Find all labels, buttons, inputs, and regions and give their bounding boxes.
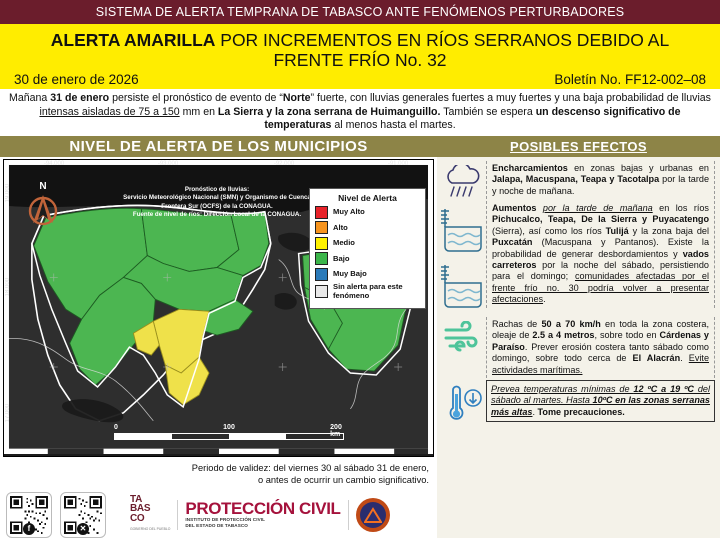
effect-text-temperature: Prevea temperaturas mínimas de 12 ºC a 1… (486, 380, 715, 422)
effects-list: Encharcamientos en zonas bajas y urbanas… (437, 157, 720, 424)
footer: f (0, 486, 437, 538)
alert-map: -94.000 -93.000 -92.000 -91.000 19.000 1… (3, 159, 434, 457)
legend-swatch (315, 252, 328, 265)
effect-text-rain: Encharcamientos en zonas bajas y urbanas… (486, 161, 715, 199)
validity-period: Periodo de validez: del viernes 30 al sá… (0, 457, 437, 486)
thermometer-down-glyph (441, 384, 485, 424)
compass-icon (26, 192, 60, 226)
validity-line-1: Periodo de validez: del viernes 30 al sá… (0, 462, 429, 474)
legend-label: Medio (333, 239, 355, 247)
scale-numbers: 0 100 200 km (114, 424, 344, 433)
effect-seg: y la zona baja del (629, 226, 709, 236)
alert-level: ALERTA AMARILLA (51, 30, 216, 50)
credit-line: Servicio Meteorológico Nacional (SMN) y … (92, 194, 342, 202)
intro-paragraph: Mañana 31 de enero persiste el pronóstic… (0, 89, 720, 136)
intro-seg: También se espera (440, 106, 535, 118)
effect-seg: El Alacrán (633, 353, 681, 363)
legend-swatch (315, 221, 328, 234)
map-longitude-labels: -94.000 -93.000 -92.000 -91.000 (4, 161, 433, 171)
bulletin-date: 30 de enero de 2026 (14, 72, 139, 87)
intro-seg: ” fuerte, con lluvias generales fuertes … (311, 92, 711, 104)
effect-seg: (Sierra), así como los ríos (492, 226, 606, 236)
lat-label: 18.000 (5, 278, 11, 296)
intro-seg: mm en (180, 106, 218, 118)
tabasco-subtitle: GOBIERNO DEL PUEBLO (130, 525, 170, 535)
effects-column: POSIBLES EFECTOS Enchar (437, 136, 720, 538)
water-level-gauge-icon (440, 201, 486, 315)
lon-label: -91.000 (388, 161, 408, 167)
thermometer-down-icon (440, 380, 486, 424)
credit-line: Frontera Sur (OCFS) de la CONAGUA. (92, 203, 342, 211)
legend-label: Sin alerta para este fenómeno (333, 283, 420, 300)
alert-reason: POR INCREMENTOS EN RÍOS SERRANOS DEBIDO … (215, 30, 669, 70)
effect-seg: , sobre todo en (594, 330, 659, 340)
lat-label: 17.000 (5, 404, 11, 422)
validity-line-2: o antes de ocurrir un cambio significati… (0, 474, 429, 486)
effect-item-temperature: Prevea temperaturas mínimas de 12 ºC a 1… (440, 380, 715, 424)
alert-meta-row: 30 de enero de 2026 Boletín No. FF12-002… (8, 70, 712, 89)
effect-seg: en zonas bajas y urbanas en (568, 163, 709, 173)
effect-seg: Puxcatán (492, 237, 532, 247)
legend-item-muy-alto: Muy Alto (315, 206, 420, 219)
effect-seg: 2.5 a 4 metros (532, 330, 594, 340)
effect-seg: Prevea temperaturas mínimas de (491, 384, 633, 394)
legend-item-alto: Alto (315, 221, 420, 234)
rain-cloud-icon (440, 161, 486, 199)
map-column: NIVEL DE ALERTA DE LOS MUNICIPIOS (0, 136, 437, 538)
map-scale-bar: 0 100 200 km (114, 424, 344, 440)
intro-seg-bold: 31 de enero (50, 92, 109, 104)
alert-band: ALERTA AMARILLA POR INCREMENTOS EN RÍOS … (0, 24, 720, 89)
effect-seg: . (543, 294, 546, 304)
legend-swatch (315, 285, 328, 298)
effect-seg: Tulijá (606, 226, 629, 236)
x-twitter-icon: ✕ (77, 523, 89, 535)
effect-item-rivers: Aumentos por la tarde de mañana en los r… (440, 201, 715, 315)
effect-seg: por la tarde de mañana (543, 203, 653, 213)
legend-item-muy-bajo: Muy Bajo (315, 268, 420, 281)
intro-seg: Mañana (9, 92, 50, 104)
legend-item-medio: Medio (315, 237, 420, 250)
map-credit: Pronóstico de lluvias: Servicio Meteorol… (92, 186, 342, 220)
legend-label: Bajo (333, 255, 349, 263)
credit-line: Pronóstico de lluvias: (92, 186, 342, 194)
legend-title: Nivel de Alerta (315, 193, 420, 203)
intro-seg: al menos hasta el martes. (331, 119, 455, 131)
pc-title: PROTECCIÓN CIVIL (185, 500, 340, 517)
effect-seg: Rachas de (492, 319, 541, 329)
scale-label: 100 (223, 424, 235, 431)
scale-bar-graphic (114, 433, 344, 440)
legend-item-bajo: Bajo (315, 252, 420, 265)
footer-logos: TA BAS CO GOBIERNO DEL PUEBLO PROTECCIÓN… (130, 495, 390, 535)
north-arrow: N (26, 182, 60, 228)
system-title: SISTEMA DE ALERTA TEMPRANA DE TABASCO AN… (96, 5, 625, 19)
lon-label: -94.000 (44, 161, 64, 167)
effect-item-wind: Rachas de 50 a 70 km/h en toda la zona c… (440, 317, 715, 378)
north-label: N (26, 182, 60, 192)
effect-seg: 12 ºC a 19 ºC (633, 384, 694, 394)
legend-swatch (315, 237, 328, 250)
intro-seg-bold: Norte (283, 92, 311, 104)
tabasco-logo: TA BAS CO GOBIERNO DEL PUEBLO (130, 495, 170, 535)
qr-facebook[interactable]: f (6, 492, 52, 538)
rain-cloud-glyph (442, 165, 484, 199)
facebook-icon: f (23, 523, 35, 535)
map-legend: Nivel de Alerta Muy Alto Alto Medio (309, 188, 426, 309)
intro-seg-underline: intensas aisladas de 75 a 150 (39, 106, 179, 118)
lon-label: -92.000 (274, 161, 294, 167)
effect-seg: Aumentos (492, 203, 543, 213)
effects-section-header: POSIBLES EFECTOS (437, 136, 720, 157)
legend-swatch (315, 206, 328, 219)
legend-label: Muy Alto (333, 208, 365, 216)
tabasco-line-3: CO (130, 514, 170, 524)
water-level-gauge-glyph (441, 205, 485, 315)
effect-item-rain: Encharcamientos en zonas bajas y urbanas… (440, 161, 715, 199)
system-title-bar: SISTEMA DE ALERTA TEMPRANA DE TABASCO AN… (0, 0, 720, 24)
effect-text-rivers: Aumentos por la tarde de mañana en los r… (486, 201, 715, 308)
emblem-inner (360, 502, 386, 528)
qr-x-twitter[interactable]: ✕ (60, 492, 106, 538)
legend-swatch (315, 268, 328, 281)
logo-divider (177, 500, 178, 530)
wind-icon (440, 317, 486, 353)
poster-body: NIVEL DE ALERTA DE LOS MUNICIPIOS (0, 136, 720, 538)
triangle-icon (364, 507, 382, 523)
legend-label: Muy Bajo (333, 270, 367, 278)
effect-seg: Pichucalco, Teapa, De la Sierra y Puyaca… (492, 214, 709, 224)
legend-item-sin-alerta: Sin alerta para este fenómeno (315, 283, 420, 300)
scale-label: 0 (114, 424, 118, 431)
map-section-header: NIVEL DE ALERTA DE LOS MUNICIPIOS (0, 136, 437, 157)
bulletin-number: Boletín No. FF12-002–08 (554, 72, 706, 87)
scale-label: 200 km (330, 424, 342, 438)
effect-seg: Encharcamientos (492, 163, 568, 173)
credit-line: Fuente de nivel de ríos: Dirección Local… (92, 211, 342, 219)
civil-protection-emblem (356, 498, 390, 532)
effect-seg: Tome precauciones. (538, 407, 625, 417)
wind-glyph (442, 321, 484, 353)
lon-label: -93.000 (158, 161, 178, 167)
effect-seg: en los ríos (653, 203, 709, 213)
intro-seg: persiste el pronóstico de evento de “ (109, 92, 283, 104)
effect-seg: Jalapa, Macuspana, Teapa y Tacotalpa (492, 174, 659, 184)
alert-poster: SISTEMA DE ALERTA TEMPRANA DE TABASCO AN… (0, 0, 720, 540)
legend-label: Alto (333, 224, 348, 232)
effect-text-wind: Rachas de 50 a 70 km/h en toda la zona c… (486, 317, 715, 378)
effect-seg: . (680, 353, 689, 363)
effect-seg: 50 a 70 km/h (541, 319, 600, 329)
pc-subtitle-2: DEL ESTADO DE TABASCO (185, 523, 340, 529)
alert-headline: ALERTA AMARILLA POR INCREMENTOS EN RÍOS … (8, 28, 712, 70)
lat-label: 19.000 (5, 184, 11, 202)
proteccion-civil-logo: PROTECCIÓN CIVIL INSTITUTO DE PROTECCIÓN… (185, 500, 340, 529)
logo-divider (348, 500, 349, 530)
intro-seg-bold: La Sierra y la zona serrana de Huimangui… (218, 106, 441, 118)
